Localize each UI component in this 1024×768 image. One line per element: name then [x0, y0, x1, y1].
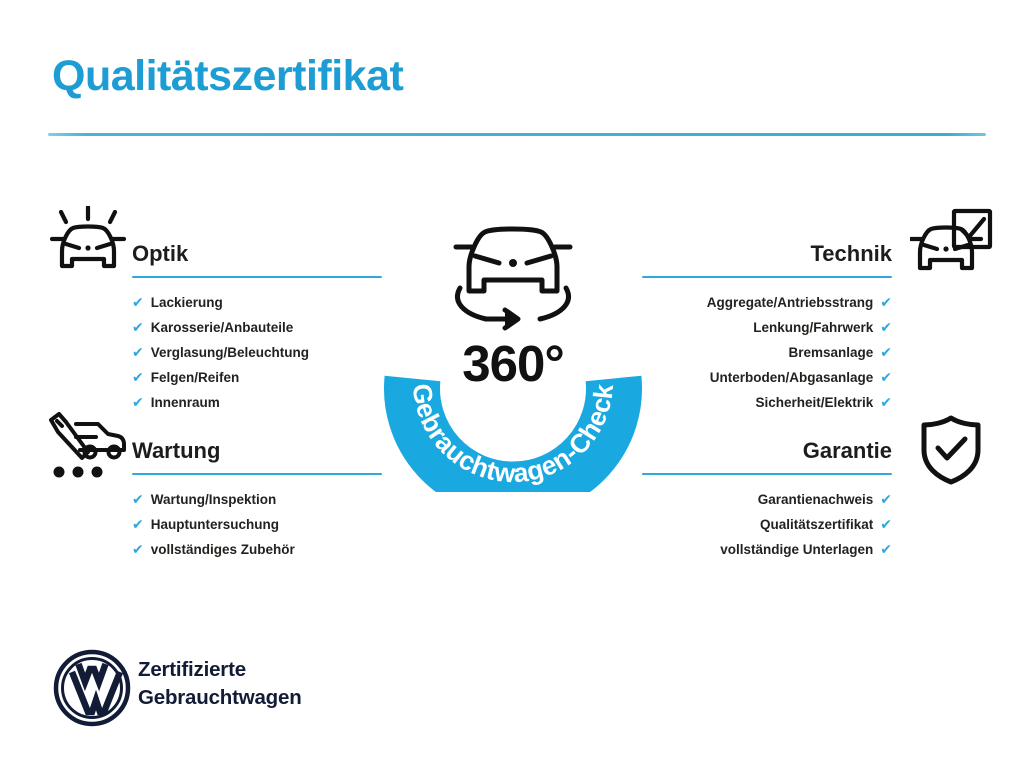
check-icon: ✔ [880, 487, 892, 511]
section-technik-header: Technik [642, 240, 892, 274]
list-item-label: Garantienachweis [758, 488, 874, 512]
check-icon: ✔ [132, 512, 144, 536]
shield-check-icon [916, 414, 986, 486]
certificate-page: Qualitätszertifikat [0, 0, 1024, 768]
section-optik-list: ✔ Lackierung ✔ Karosserie/Anbauteile ✔ V… [132, 290, 382, 415]
section-technik-list: Aggregate/Antriebsstrang ✔ Lenkung/Fahrw… [642, 290, 892, 415]
list-item: Lenkung/Fahrwerk ✔ [642, 315, 892, 340]
list-item-label: vollständige Unterlagen [720, 538, 873, 562]
list-item: Garantienachweis ✔ [642, 487, 892, 512]
list-item: Aggregate/Antriebsstrang ✔ [642, 290, 892, 315]
check-icon: ✔ [132, 487, 144, 511]
list-item-label: Unterboden/Abgasanlage [710, 366, 874, 390]
list-item: Unterboden/Abgasanlage ✔ [642, 365, 892, 390]
check-icon: ✔ [880, 537, 892, 561]
list-item-label: Bremsanlage [788, 341, 873, 365]
section-wartung-title: Wartung [132, 437, 382, 465]
list-item-label: Innenraum [151, 391, 220, 415]
section-technik: Technik Aggregate/Antriebsstrang ✔ Lenku… [642, 240, 892, 415]
section-garantie-list: Garantienachweis ✔ Qualitätszertifikat ✔… [642, 487, 892, 562]
list-item-label: Qualitätszertifikat [760, 513, 873, 537]
section-wartung: Wartung ✔ Wartung/Inspektion ✔ Hauptunte… [132, 437, 382, 562]
check-icon: ✔ [880, 340, 892, 364]
section-optik-divider [132, 276, 382, 278]
section-garantie: Garantie Garantienachweis ✔ Qualitätszer… [642, 437, 892, 562]
check-icon: ✔ [880, 512, 892, 536]
section-optik: Optik ✔ Lackierung ✔ Karosserie/Anbautei… [132, 240, 382, 415]
section-garantie-header: Garantie [642, 437, 892, 471]
list-item-label: vollständiges Zubehör [151, 538, 295, 562]
list-item-label: Lackierung [151, 291, 223, 315]
360-check-badge: Gebrauchtwagen-Check 360° [368, 192, 658, 492]
check-icon: ✔ [880, 290, 892, 314]
check-icon: ✔ [880, 365, 892, 389]
list-item-label: Lenkung/Fahrwerk [753, 316, 873, 340]
list-item: ✔ Verglasung/Beleuchtung [132, 340, 382, 365]
vw-text-line-1: Zertifizierte [138, 656, 302, 684]
section-technik-title: Technik [642, 240, 892, 268]
list-item-label: Aggregate/Antriebsstrang [707, 291, 874, 315]
vw-certified-text: Zertifizierte Gebrauchtwagen [138, 656, 302, 712]
section-wartung-list: ✔ Wartung/Inspektion ✔ Hauptuntersuchung… [132, 487, 382, 562]
section-garantie-title: Garantie [642, 437, 892, 465]
list-item: ✔ Wartung/Inspektion [132, 487, 382, 512]
section-optik-header: Optik [132, 240, 382, 274]
list-item: ✔ Felgen/Reifen [132, 365, 382, 390]
volkswagen-logo [52, 648, 132, 728]
list-item-label: Wartung/Inspektion [151, 488, 277, 512]
check-icon: ✔ [880, 390, 892, 414]
list-item: Bremsanlage ✔ [642, 340, 892, 365]
car-checkbox-icon [910, 208, 994, 280]
list-item: ✔ Karosserie/Anbauteile [132, 315, 382, 340]
check-icon: ✔ [132, 537, 144, 561]
list-item-label: Karosserie/Anbauteile [151, 316, 294, 340]
section-garantie-divider [642, 473, 892, 475]
list-item: Sicherheit/Elektrik ✔ [642, 390, 892, 415]
check-icon: ✔ [132, 315, 144, 339]
check-icon: ✔ [132, 290, 144, 314]
section-wartung-header: Wartung [132, 437, 382, 471]
check-icon: ✔ [132, 340, 144, 364]
car-shine-icon [46, 206, 130, 284]
list-item: ✔ vollständiges Zubehör [132, 537, 382, 562]
title-divider [48, 133, 986, 136]
list-item-label: Sicherheit/Elektrik [755, 391, 873, 415]
list-item: ✔ Hauptuntersuchung [132, 512, 382, 537]
list-item-label: Verglasung/Beleuchtung [151, 341, 309, 365]
list-item: ✔ Lackierung [132, 290, 382, 315]
list-item: Qualitätszertifikat ✔ [642, 512, 892, 537]
list-item: vollständige Unterlagen ✔ [642, 537, 892, 562]
page-title: Qualitätszertifikat [52, 52, 403, 101]
check-icon: ✔ [880, 315, 892, 339]
vw-text-line-2: Gebrauchtwagen [138, 684, 302, 712]
check-icon: ✔ [132, 365, 144, 389]
check-icon: ✔ [132, 390, 144, 414]
list-item-label: Felgen/Reifen [151, 366, 240, 390]
badge-center-label: 360° [368, 335, 658, 393]
wrench-car-service-icon [46, 412, 130, 482]
car-rotate-360-icon [456, 229, 570, 328]
section-wartung-divider [132, 473, 382, 475]
list-item-label: Hauptuntersuchung [151, 513, 279, 537]
list-item: ✔ Innenraum [132, 390, 382, 415]
section-optik-title: Optik [132, 240, 382, 268]
section-technik-divider [642, 276, 892, 278]
